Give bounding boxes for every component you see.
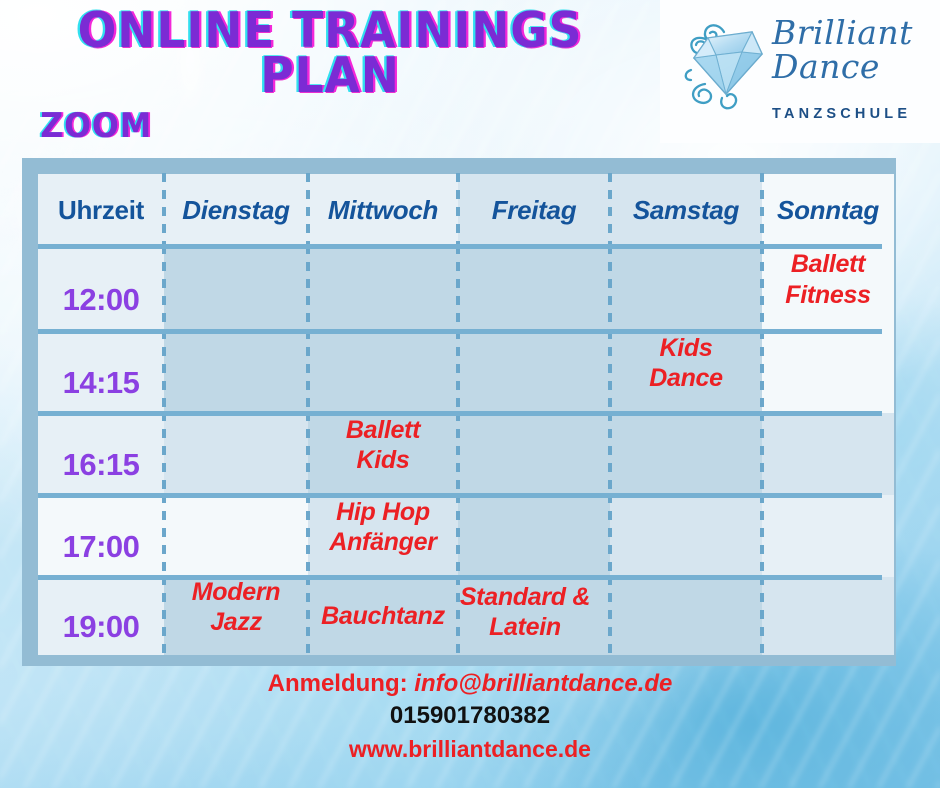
column-header-uhrzeit: Uhrzeit — [38, 174, 164, 246]
column-header-label: Dienstag — [182, 195, 289, 226]
website-link[interactable]: www.brilliantdance.de — [0, 738, 940, 762]
footer-contact-block: Anmeldung: info@brilliantdance.de 015901… — [0, 672, 940, 762]
time-cell: 19:00 — [38, 577, 164, 655]
class-label: Modern Jazz — [192, 577, 280, 638]
schedule-cell-empty[interactable] — [458, 495, 610, 577]
schedule-cell-ballett-kids[interactable]: Ballett Kids — [308, 413, 458, 495]
class-label: Hip Hop Anfänger — [329, 497, 436, 558]
logo-wordmark: Brilliant Dance — [772, 16, 913, 83]
schedule-cell-empty[interactable] — [458, 246, 610, 331]
schedule-cell-empty[interactable] — [164, 331, 308, 413]
schedule-cell-empty[interactable] — [762, 495, 894, 577]
schedule-cell-empty[interactable] — [308, 331, 458, 413]
schedule-cell-empty[interactable] — [762, 413, 894, 495]
schedule-cell-empty[interactable] — [610, 246, 762, 331]
class-label: Kids Dance — [649, 333, 723, 394]
schedule-cell-bauchtanz[interactable]: Bauchtanz — [308, 577, 458, 655]
schedule-cell-empty[interactable] — [458, 413, 610, 495]
schedule-cell-empty[interactable] — [762, 577, 894, 655]
time-label: 12:00 — [63, 282, 140, 318]
schedule-cell-empty[interactable] — [610, 413, 762, 495]
schedule-cell-empty[interactable] — [458, 331, 610, 413]
column-header-label: Sonntag — [777, 195, 879, 226]
time-cell: 16:15 — [38, 413, 164, 495]
column-header-label: Samstag — [633, 195, 739, 226]
brand-logo-card: Brilliant Dance TANZSCHULE — [660, 0, 940, 143]
schedule-cell-kids-dance[interactable]: Kids Dance — [610, 331, 762, 413]
class-label: Bauchtanz — [321, 601, 445, 632]
title-block: ONLINE TRAININGS PLAN — [0, 8, 660, 98]
page-title: ONLINE TRAININGS PLAN — [23, 8, 637, 98]
time-cell: 17:00 — [38, 495, 164, 577]
column-header-samstag: Samstag — [610, 174, 762, 246]
column-header-dienstag: Dienstag — [164, 174, 308, 246]
schedule-cell-modern-jazz[interactable]: Modern Jazz — [164, 577, 308, 655]
contact-phone[interactable]: 015901780382 — [0, 704, 940, 729]
contact-email-link[interactable]: info@brilliantdance.de — [414, 670, 672, 697]
time-label: 17:00 — [63, 529, 140, 565]
logo-inner: Brilliant Dance TANZSCHULE — [660, 0, 940, 143]
schedule-table-frame: Uhrzeit Dienstag Mittwoch Freitag Samsta… — [22, 158, 896, 666]
platform-label-zoom: ZOOM — [40, 106, 152, 146]
diamond-gem-icon — [678, 14, 776, 114]
signup-line: Anmeldung: info@brilliantdance.de — [0, 672, 940, 697]
time-label: 19:00 — [63, 609, 140, 645]
class-label: Standard & Latein — [449, 582, 601, 643]
column-header-label: Mittwoch — [328, 195, 438, 226]
column-header-freitag: Freitag — [458, 174, 610, 246]
column-header-sonntag: Sonntag — [762, 174, 894, 246]
schedule-cell-standard-latein[interactable]: Standard & Latein — [458, 577, 610, 655]
class-label: Ballett Fitness — [785, 249, 870, 310]
class-label: Ballett Kids — [346, 415, 420, 476]
schedule-cell-empty[interactable] — [308, 246, 458, 331]
column-header-mittwoch: Mittwoch — [308, 174, 458, 246]
schedule-cell-hip-hop-anfaenger[interactable]: Hip Hop Anfänger — [308, 495, 458, 577]
schedule-cell-empty[interactable] — [164, 413, 308, 495]
schedule-cell-empty[interactable] — [164, 246, 308, 331]
schedule-cell-empty[interactable] — [610, 495, 762, 577]
time-cell: 14:15 — [38, 331, 164, 413]
schedule-cell-empty[interactable] — [762, 331, 894, 413]
schedule-cell-empty[interactable] — [164, 495, 308, 577]
schedule-grid: Uhrzeit Dienstag Mittwoch Freitag Samsta… — [38, 174, 882, 648]
column-header-label: Uhrzeit — [58, 195, 144, 226]
time-label: 14:15 — [63, 365, 140, 401]
time-cell: 12:00 — [38, 246, 164, 331]
column-header-label: Freitag — [492, 195, 577, 226]
schedule-cell-empty[interactable] — [610, 577, 762, 655]
logo-tagline: TANZSCHULE — [772, 106, 911, 122]
time-label: 16:15 — [63, 447, 140, 483]
poster-canvas: ONLINE TRAININGS PLAN ZOOM — [0, 0, 940, 788]
schedule-cell-ballett-fitness[interactable]: Ballett Fitness — [762, 246, 894, 331]
signup-label: Anmeldung: — [268, 670, 408, 697]
